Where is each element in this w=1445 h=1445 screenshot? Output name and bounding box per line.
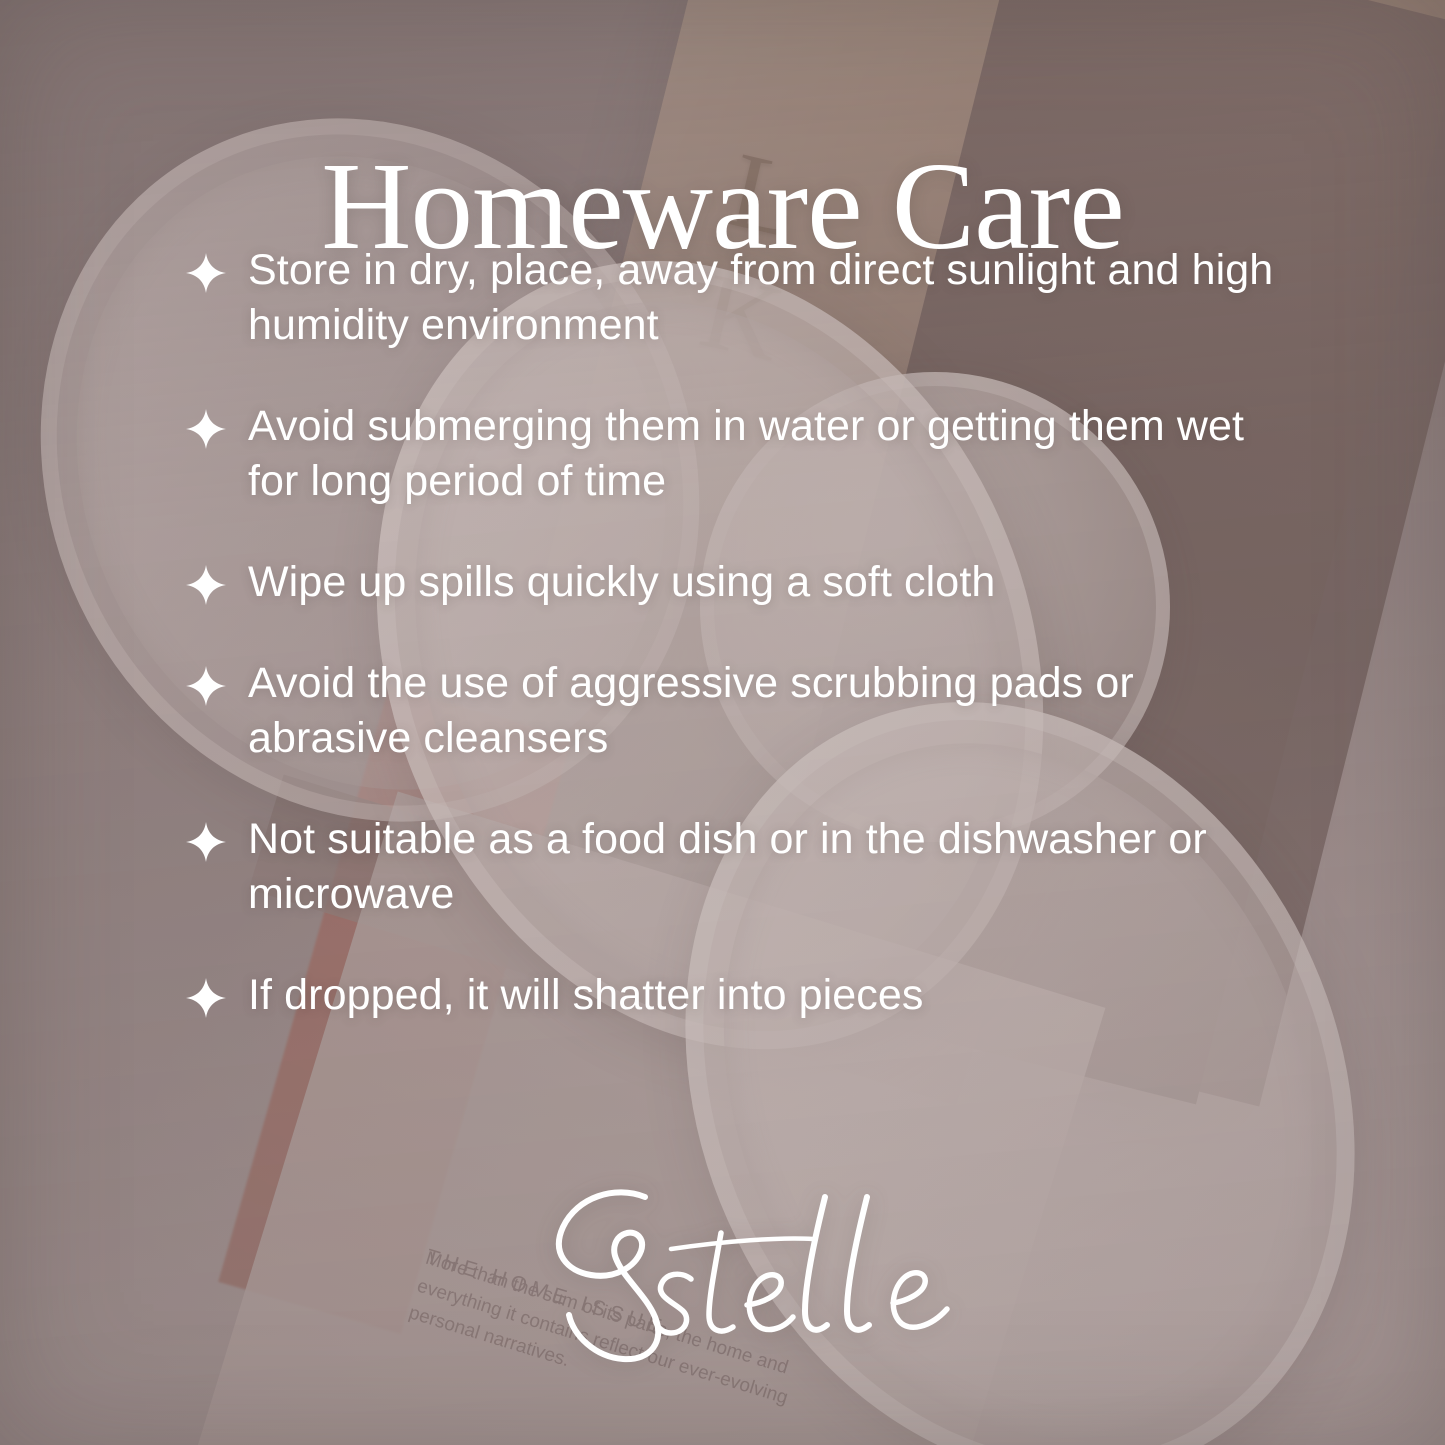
care-instruction-item: Not suitable as a food dish or in the di… — [186, 812, 1276, 922]
care-instruction-text: If dropped, it will shatter into pieces — [248, 968, 924, 1023]
care-instruction-list: Store in dry, place, away from direct su… — [186, 243, 1276, 1023]
care-instruction-item: Wipe up spills quickly using a soft clot… — [186, 555, 1276, 610]
care-instruction-text: Not suitable as a food dish or in the di… — [248, 812, 1276, 922]
sparkle-bullet-icon — [186, 409, 226, 449]
care-instruction-text: Avoid the use of aggressive scrubbing pa… — [248, 656, 1276, 766]
brand-signature-estelle: Estelle — [495, 1175, 955, 1365]
sparkle-bullet-icon — [186, 565, 226, 605]
sparkle-bullet-icon — [186, 253, 226, 293]
care-instruction-text: Avoid submerging them in water or gettin… — [248, 399, 1276, 509]
care-instruction-item: Store in dry, place, away from direct su… — [186, 243, 1276, 353]
care-instruction-item: Avoid submerging them in water or gettin… — [186, 399, 1276, 509]
content-layer: Homeware Care Store in dry, place, away … — [0, 0, 1445, 1445]
care-instruction-text: Wipe up spills quickly using a soft clot… — [248, 555, 995, 610]
care-instruction-item: Avoid the use of aggressive scrubbing pa… — [186, 656, 1276, 766]
sparkle-bullet-icon — [186, 822, 226, 862]
care-instruction-text: Store in dry, place, away from direct su… — [248, 243, 1276, 353]
sparkle-bullet-icon — [186, 978, 226, 1018]
care-instruction-item: If dropped, it will shatter into pieces — [186, 968, 1276, 1023]
homeware-care-graphic: L K THE HOME ISSUE More than the sum of … — [0, 0, 1445, 1445]
sparkle-bullet-icon — [186, 666, 226, 706]
